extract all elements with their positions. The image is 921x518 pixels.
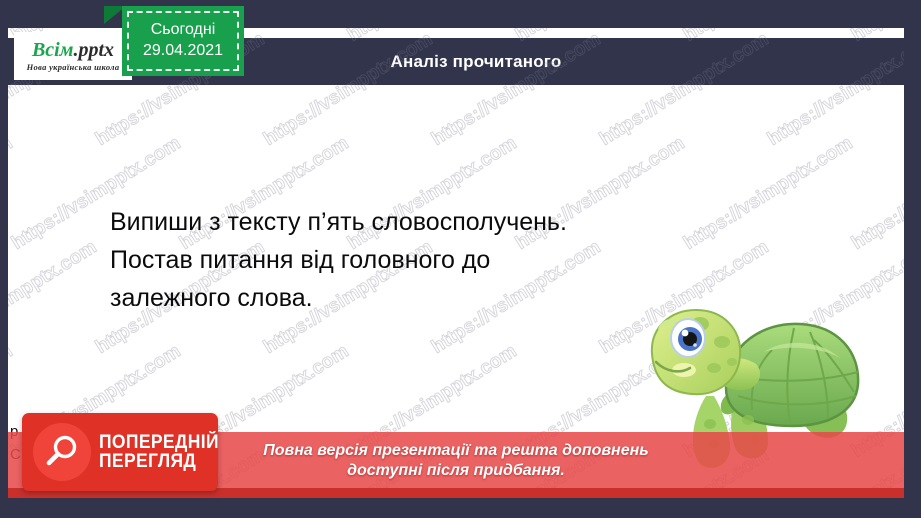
preview-badge-text: ПОПЕРЕДНІЙ ПЕРЕГЛЯД xyxy=(99,433,218,471)
banner-line-1: Повна версія презентації та решта доповн… xyxy=(263,441,649,461)
today-label: Сьогодні xyxy=(151,22,216,39)
preview-line-1: ПОПЕРЕДНІЙ xyxy=(99,433,218,452)
watermark-text: https://vsimpptx.com xyxy=(848,133,904,255)
page-title: Аналіз прочитаного xyxy=(391,52,562,72)
today-badge: Сьогодні 29.04.2021 xyxy=(122,6,244,76)
magnifier-icon xyxy=(33,423,91,481)
body-line-1: Випиши з тексту п’ять словосполучень. xyxy=(110,203,810,241)
watermark-text: https://vsimpptx.com xyxy=(8,133,17,255)
window-frame: р С Випиши з тексту п’ять словосполучень… xyxy=(0,0,921,518)
logo-word-pptx: pptx xyxy=(78,39,114,61)
logo-wordmark: Всім.pptx xyxy=(32,40,114,60)
watermark-text: https://vsimpptx.com xyxy=(8,237,101,359)
body-line-2: Постав питання від головного до xyxy=(110,241,810,279)
preview-line-2: ПЕРЕГЛЯД xyxy=(99,452,218,471)
site-logo: Всім.pptx Нова українська школа xyxy=(14,32,132,80)
preview-badge: ПОПЕРЕДНІЙ ПЕРЕГЛЯД xyxy=(22,413,218,491)
logo-word-vsim: Всім xyxy=(32,39,73,61)
logo-subtitle: Нова українська школа xyxy=(27,62,120,72)
today-date: 29.04.2021 xyxy=(143,43,223,60)
banner-line-2: доступні після придбання. xyxy=(347,461,565,481)
